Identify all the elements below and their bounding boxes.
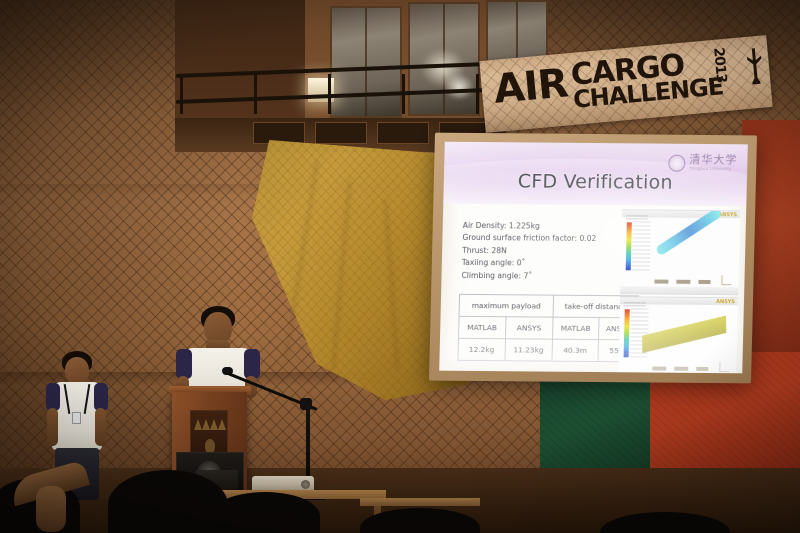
slide-parameter-list: Air Density: 1.225kg Ground surface fric…: [461, 220, 633, 283]
crest-ornament: [205, 439, 215, 453]
logo-chinese-text: 清华大学: [689, 154, 737, 165]
head: [65, 357, 89, 384]
audience-forearm: [36, 486, 66, 532]
banner-cargo-text: CARGO: [570, 51, 686, 91]
axis-triad-icon: [719, 362, 729, 372]
side-table: [360, 498, 480, 506]
banner-year-text: 2013: [711, 47, 728, 83]
id-badge: [72, 412, 81, 424]
university-seal-icon: [668, 154, 685, 171]
slide-title: CFD Verification: [518, 170, 673, 193]
banner-air-text: AIR: [492, 63, 569, 110]
subheader-payload-ansys: ANSYS: [505, 317, 553, 339]
banner-challenge-text: CHALLENGE: [572, 74, 724, 112]
sleeve-right: [244, 349, 260, 379]
subheader-payload-matlab: MATLAB: [458, 316, 505, 338]
sleeve-right: [94, 383, 108, 411]
slide-surface: 清华大学 Tsinghua University CFD Verificatio…: [439, 142, 748, 374]
sleeve-left: [176, 349, 192, 379]
value-payload-ansys: 11.23kg: [505, 339, 553, 361]
arm-right: [95, 408, 106, 446]
subheader-distance-matlab: MATLAB: [552, 317, 599, 339]
upper-cfd-contour: ANSYS: [620, 209, 740, 295]
tsinghua-logo: 清华大学 Tsinghua University: [668, 150, 738, 177]
airplane-silhouette-icon: [745, 44, 765, 87]
ansys-watermark: ANSYS: [716, 299, 735, 305]
bullet-friction-factor: Ground surface friction factor: 0.02: [462, 232, 632, 246]
table-row-sub-headers: MATLAB ANSYS MATLAB ANSYS: [458, 316, 638, 340]
results-table: maximum payload take-off distance MATLAB…: [457, 294, 639, 363]
axis-triad-icon: [721, 275, 731, 285]
header-maximum-payload: maximum payload: [459, 294, 553, 317]
audience-head: [210, 492, 320, 533]
arm-left: [47, 408, 58, 446]
logo-english-text: Tsinghua University: [689, 167, 737, 172]
sleeve-left: [46, 383, 60, 411]
presentation-photo: AIR CARGO CHALLENGE 2013 清华大学: [0, 0, 800, 533]
value-payload-matlab: 12.2kg: [458, 338, 505, 360]
bullet-taxiing-angle: Taxiing angle: 0˚: [462, 257, 632, 271]
lower-cfd-contour: ANSYS: [618, 296, 738, 373]
projector-lens-icon: [301, 480, 310, 489]
projection-screen: 清华大学 Tsinghua University CFD Verificatio…: [429, 133, 757, 384]
crown-icon: [194, 417, 226, 430]
wing-geometry-contour: [642, 316, 726, 353]
table-row-values: 12.2kg 11.23kg 40.3m 55m: [458, 338, 638, 362]
table-row-group-headers: maximum payload take-off distance: [459, 294, 639, 318]
value-distance-matlab: 40.3m: [552, 339, 599, 361]
bullet-climbing-angle: Climbing angle: 7˚: [461, 269, 631, 283]
